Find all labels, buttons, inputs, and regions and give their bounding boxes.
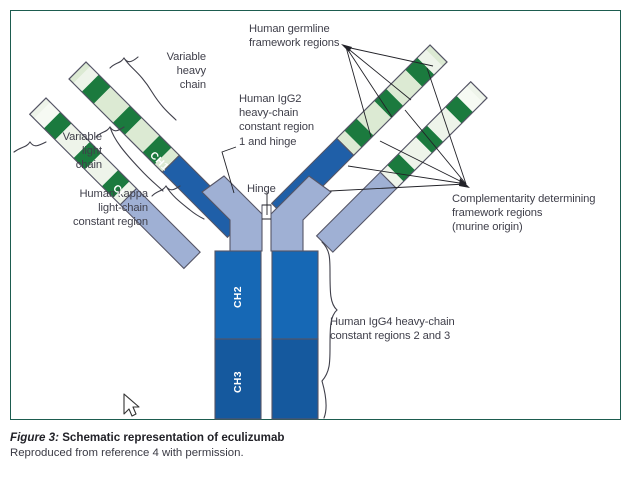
- caption-title-line: Figure 3: Schematic representation of ec…: [10, 430, 621, 445]
- caption-title-text: Schematic representation of eculizumab: [62, 431, 284, 444]
- figure-caption: Figure 3: Schematic representation of ec…: [10, 430, 621, 461]
- label-human-igg2: Human IgG2 heavy-chain constant region 1…: [239, 92, 347, 149]
- caption-source-text: Reproduced from reference 4 with permiss…: [10, 446, 621, 461]
- domain-label-ch2: CH2: [233, 286, 244, 308]
- label-human-igg4: Human IgG4 heavy-chain constant regions …: [330, 315, 508, 343]
- caption-figure-number: Figure 3:: [10, 431, 59, 444]
- domain-label-ch3: CH3: [233, 371, 244, 393]
- label-hinge: Hinge: [247, 182, 276, 196]
- label-human-germline: Human germline framework regions: [249, 22, 379, 50]
- label-variable-heavy-chain: Variable heavy chain: [118, 50, 206, 93]
- figure-container: Human germline framework regions Variabl…: [0, 0, 633, 485]
- label-cdr-murine: Complementarity determining framework re…: [452, 192, 622, 235]
- label-variable-light-chain: Variable light chain: [18, 130, 102, 173]
